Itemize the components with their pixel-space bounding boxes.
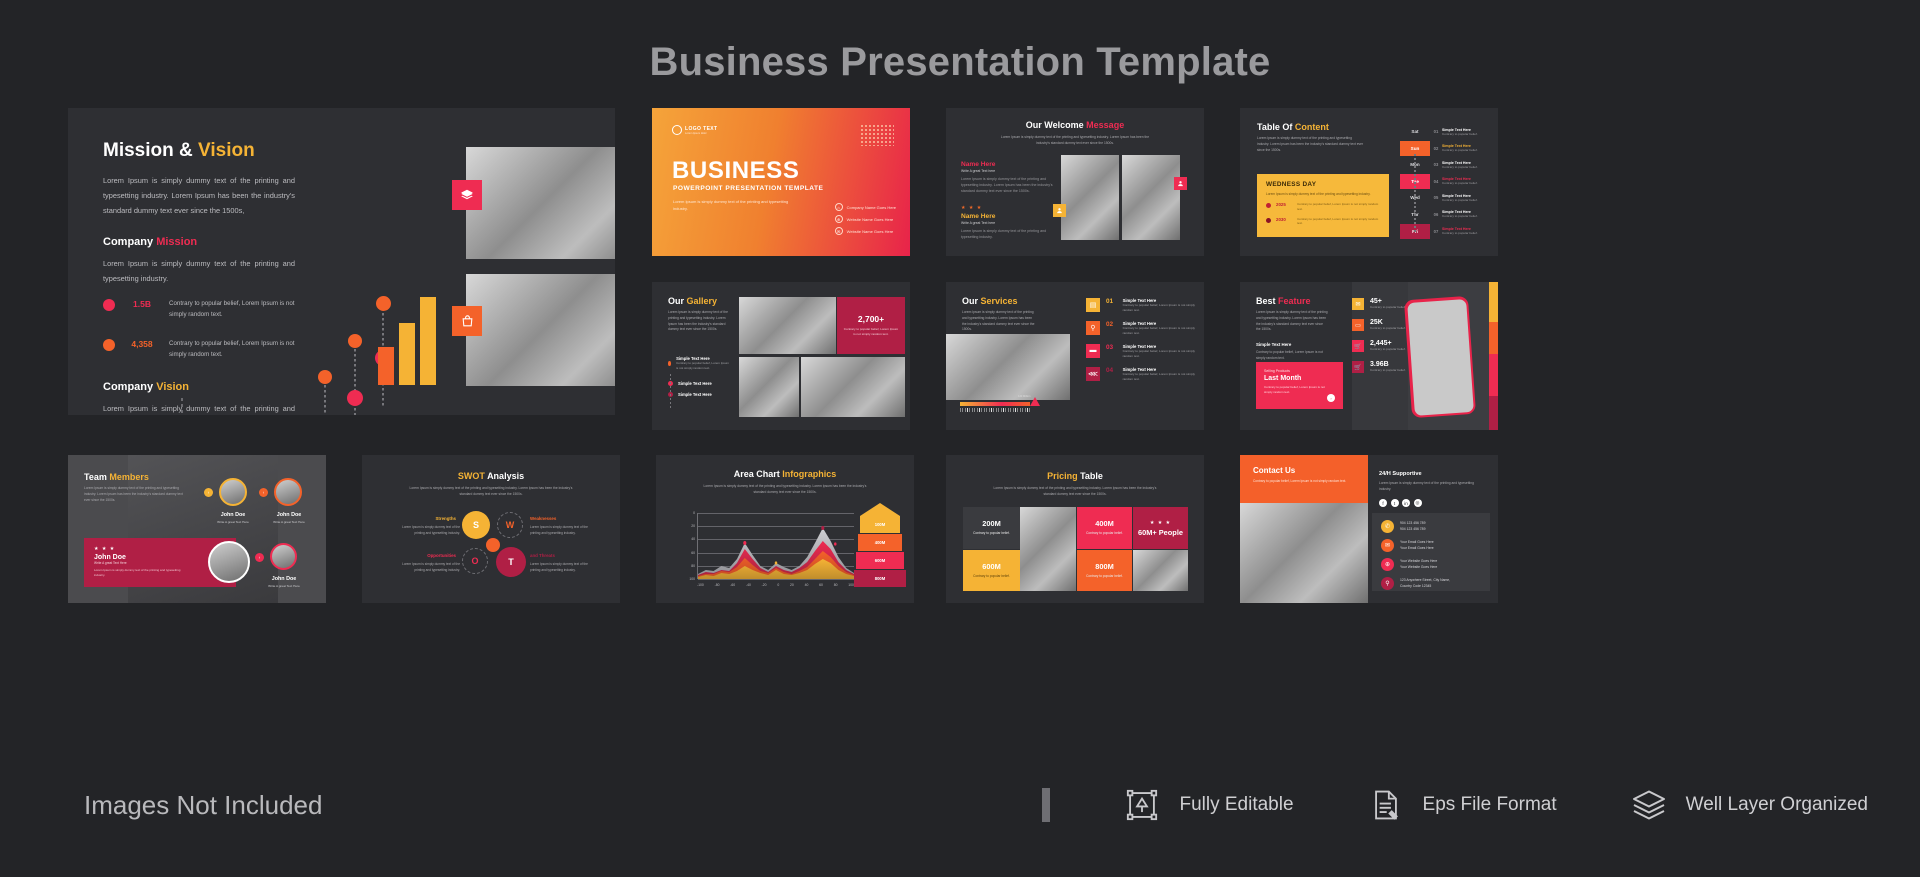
toc-highlight-card: WEDNESS DAY Lorem Ipsum is simply dummy … (1257, 174, 1389, 237)
stat-text-wrap: 25KContrary to popular belief. (1370, 319, 1406, 331)
toc-row[interactable]: Sat 01 Simple Text HereContrary to popul… (1400, 124, 1492, 139)
area-subtitle: Lorem Ipsum is simply dummy text of the … (699, 484, 871, 496)
member-name: John Doe (257, 576, 311, 582)
team-text: Lorem Ipsum is simply dummy text of the … (84, 486, 184, 503)
x-tick: 0 (777, 583, 779, 587)
swot-circle-w: W (497, 512, 523, 538)
gallery-list-item[interactable]: Simple Text HereContrary to popular beli… (668, 356, 730, 371)
social-links[interactable]: f t in ◎ (1379, 499, 1422, 507)
feature-subtitle: Simple Text Here (1256, 342, 1328, 347)
slide-table-of-content[interactable]: Table Of Content Lorem Ipsum is simply d… (1240, 108, 1498, 256)
swot-label-strengths: Strengths (394, 516, 456, 521)
slide-contact-us[interactable]: Contact Us Contrary to popular belief, L… (1240, 455, 1498, 603)
dot-pattern (860, 124, 894, 146)
contact-text: Website Name Goes Here (847, 229, 894, 234)
card-text: Contrary to popular belief, Lorem Ipsum … (1264, 385, 1326, 395)
card-text: Lorem Ipsum is simply dummy text of the … (1266, 192, 1380, 197)
swot-circle-t: T (496, 547, 526, 577)
service-row[interactable]: ▬ 03 Simple Text HereContrary to popular… (1086, 344, 1196, 359)
contact-lines: Your Website Goes HereYour Website Goes … (1400, 559, 1437, 570)
service-text: Simple Text HereContrary to popular beli… (1123, 321, 1196, 336)
linkedin-icon[interactable]: in (1402, 499, 1410, 507)
swot-label-weaknesses: Weaknesses (530, 516, 556, 521)
cover-contact-list: ⌂ Company Name Goes Here ⊕ Website Name … (835, 203, 896, 239)
presentation-preview-page: Business Presentation Template Mission &… (0, 0, 1920, 877)
slide-swot-analysis[interactable]: SWOT Analysis Lorem Ipsum is simply dumm… (362, 455, 620, 603)
contact-text: Website Name Goes Here (847, 217, 894, 222)
y-tick: 20 (691, 524, 695, 528)
footer-divider (1042, 788, 1050, 822)
x-tick: -80 (715, 583, 720, 587)
bubble-tail (324, 380, 326, 415)
home-icon: ⌂ (835, 203, 843, 211)
swot-title: SWOT Analysis (362, 471, 620, 481)
stat-text: Contrary to popular belief, Lorem Ipsum … (1297, 217, 1380, 226)
slide-best-feature[interactable]: Best Feature Lorem Ipsum is simply dummy… (1240, 282, 1498, 430)
group-photo (466, 274, 615, 386)
mail-icon: ✉ (1381, 539, 1394, 552)
area-chart: 0 20 40 60 80 100 (682, 513, 854, 587)
legend-arrow-icon (860, 503, 900, 516)
card-title: WEDNESS DAY (1266, 181, 1380, 188)
card-stat-row: 2030 Contrary to popular belief, Lorem I… (1266, 217, 1380, 226)
toc-number: 01 (1430, 129, 1442, 134)
legend-item[interactable]: 800M (854, 570, 906, 587)
stat-value: 2,700+ (858, 314, 884, 324)
avatar (219, 478, 247, 506)
pricing-cell[interactable]: 400MContrary to popular belief. (1077, 507, 1132, 549)
instagram-icon[interactable]: ◎ (1414, 499, 1422, 507)
slide-team-members[interactable]: Team Members Lorem Ipsum is simply dummy… (68, 455, 326, 603)
toc-text: Simple Text HereContrary to popular beli… (1442, 227, 1478, 235)
rating-stars: ★ ★ ★ (94, 546, 226, 552)
progress-bar (960, 402, 1030, 406)
gallery-stat-card: 2,700+ Contrary to popular belief, Lorem… (837, 297, 905, 354)
person-role: Write A great Text here (961, 169, 1053, 173)
logo: LOGO TEXT Lorem Ipsum dolor (672, 125, 718, 135)
contact-text: Contrary to popular belief, Lorem Ipsum … (1253, 479, 1355, 484)
x-tick: -100 (697, 583, 704, 587)
x-tick: -60 (730, 583, 735, 587)
person-photo (1061, 155, 1119, 240)
toc-number: 04 (1430, 179, 1442, 184)
bar (399, 323, 415, 385)
toc-subtitle: Lorem Ipsum is simply dummy text of the … (1257, 136, 1365, 153)
feature-stat-row: 🛒 2,445+Contrary to popular belief. (1352, 340, 1406, 352)
facebook-icon[interactable]: f (1379, 499, 1387, 507)
feature-title: Best Feature (1256, 296, 1328, 306)
gallery-title: Our Gallery (668, 296, 730, 306)
contact-lines: Your Email Goes HereYour Email Goes Here (1400, 540, 1434, 551)
layers-icon (452, 180, 482, 210)
x-tick: 40 (805, 583, 809, 587)
item-text: Simple Text HereContrary to popular beli… (676, 356, 730, 371)
toc-text: Simple Text HereContrary to popular beli… (1442, 194, 1478, 202)
person-role: Write A great Text here (961, 221, 1053, 225)
company-vision-body: Lorem Ipsum is simply dummy text of the … (103, 401, 295, 415)
y-axis: 0 20 40 60 80 100 (682, 513, 695, 579)
swot-label-threats: and Threats (530, 553, 555, 558)
swot-text-opportunities: Lorem Ipsum is simply dummy text of the … (392, 562, 460, 573)
x-tick: 80 (834, 583, 838, 587)
toc-number: 05 (1430, 195, 1442, 200)
card-stat-row: 2025 Contrary to popular belief, Lorem I… (1266, 202, 1380, 211)
gallery-list-item[interactable]: Simple Text Here (668, 392, 730, 397)
footer-feature-eps-format: Eps File Format (1366, 785, 1557, 825)
footer-feature-fully-editable: Fully Editable (1122, 785, 1293, 825)
feature-card: Selling Products Last Month Contrary to … (1256, 362, 1343, 409)
gallery-list-item[interactable]: Simple Text Here (668, 381, 730, 386)
legend-item[interactable]: 400M (858, 534, 902, 551)
stat-text-wrap: 2,445+Contrary to popular belief. (1370, 340, 1406, 352)
x-tick: 20 (790, 583, 794, 587)
user-icon (1053, 204, 1066, 217)
team-photo (466, 147, 615, 259)
member-name: John Doe (262, 512, 316, 518)
support-title: 24/H Supportive (1379, 471, 1484, 477)
stat-value: 1.5B (115, 299, 169, 309)
document-icon (1366, 785, 1406, 825)
phone-icon: ✆ (1381, 520, 1394, 533)
chevron-left-icon[interactable]: ‹ (204, 488, 213, 497)
feature-subtext: Contrary to popular belief, Lorem Ipsum … (1256, 350, 1328, 362)
stat-text: Contrary to popular belief, Lorem Ipsum … (169, 298, 299, 321)
contact-photo (1240, 503, 1368, 603)
avatar (270, 543, 297, 570)
color-stripe (1489, 282, 1498, 430)
toc-number: 03 (1430, 162, 1442, 167)
contact-lines: 904 123 456 789904 123 456 789 (1400, 521, 1425, 532)
toc-text: Simple Text HereContrary to popular beli… (1442, 177, 1478, 185)
feature-stat-row: 🛒 3.96BContrary to popular belief. (1352, 361, 1406, 373)
layers-icon (1629, 785, 1669, 825)
service-number: 04 (1106, 367, 1117, 374)
area-title: Area Chart Infographics (656, 469, 914, 479)
bubble (347, 390, 363, 406)
service-row[interactable]: ▤ 01 Simple Text HereContrary to popular… (1086, 298, 1196, 313)
service-row[interactable]: ⋘ 04 Simple Text HereContrary to popular… (1086, 367, 1196, 382)
person-photo (1122, 155, 1180, 240)
logo-subtext: Lorem Ipsum dolor (685, 132, 718, 135)
x-tick: -20 (762, 583, 767, 587)
featured-name: John Doe (94, 554, 226, 561)
phone-screen (1407, 299, 1474, 416)
footer-bar: Images Not Included Fully Editable (0, 775, 1920, 835)
footer-feature-label: Eps File Format (1423, 794, 1557, 816)
y-tick: 0 (693, 511, 695, 515)
chart-label: 123 Million (1018, 395, 1030, 398)
person-name: Name Here (961, 213, 1053, 220)
toc-number: 02 (1430, 146, 1442, 151)
tick-marks (960, 408, 1032, 412)
toc-day: Sat (1400, 124, 1430, 139)
mail-icon: ✉ (1352, 298, 1364, 310)
bubble (318, 370, 332, 384)
stat-value: 4,358 (115, 339, 169, 349)
chart-legend: 100M 400M 600M 800M (860, 503, 900, 588)
stat-dot (1266, 218, 1271, 223)
logo-ring-icon (672, 125, 682, 135)
stat-dot (1266, 203, 1271, 208)
cover-subtitle: POWERPOINT PRESENTATION TEMPLATE (673, 185, 823, 192)
plot-area (697, 513, 854, 579)
contact-item[interactable]: ✆ 904 123 456 789904 123 456 789 (1381, 520, 1481, 533)
chevron-left-icon[interactable]: ‹ (259, 488, 268, 497)
member-role: Write A great Text Here (262, 520, 316, 524)
stat-dot (103, 339, 115, 351)
area-series-svg (698, 513, 854, 579)
pricing-subtitle: Lorem Ipsum is simply dummy text of the … (991, 486, 1159, 498)
stat-text: Contrary to popular belief, Lorem Ipsum … (1297, 202, 1380, 211)
vector-pen-icon (1122, 785, 1162, 825)
services-title: Our Services (962, 296, 1036, 306)
contact-title: Contact Us (1253, 466, 1355, 475)
stat-text-wrap: 45+Contrary to popular belief. (1370, 298, 1406, 310)
rating-stars: ★ ★ ★ (1150, 520, 1171, 526)
gallery-photo (739, 297, 836, 354)
mission-bar-chart (378, 280, 450, 385)
briefcase-icon: ▬ (1086, 344, 1100, 358)
person-text: Lorem Ipsum is simply dummy text of the … (961, 177, 1053, 194)
y-tick: 60 (691, 551, 695, 555)
stat-year: 2025 (1276, 202, 1292, 207)
pin-icon: ⚲ (1381, 577, 1394, 590)
gallery-connector (670, 374, 671, 408)
feature-stat-row: ✉ 45+Contrary to popular belief. (1352, 298, 1406, 310)
service-row[interactable]: ⚲ 02 Simple Text HereContrary to popular… (1086, 321, 1196, 336)
slide-gallery[interactable]: Our Gallery Lorem Ipsum is simply dummy … (652, 282, 910, 430)
slide-business-cover[interactable]: LOGO TEXT Lorem Ipsum dolor BUSINESS POW… (652, 108, 910, 256)
logo-text: LOGO TEXT (685, 126, 718, 132)
contact-row: ⌂ Company Name Goes Here (835, 203, 896, 211)
team-title: Team Members (84, 472, 184, 482)
pricing-photo (1133, 550, 1188, 591)
twitter-icon[interactable]: t (1391, 499, 1399, 507)
pricing-cell[interactable]: 800MContrary to popular belief. (1077, 550, 1132, 591)
toc-connector (1414, 154, 1416, 234)
swot-circle-s: S (462, 511, 490, 539)
welcome-subtitle: Lorem Ipsum is simply dummy text of the … (995, 135, 1155, 147)
feature-text: Lorem Ipsum is simply dummy text of the … (1256, 310, 1328, 333)
cart-check-icon: 🛒 (1352, 361, 1364, 373)
swot-text-strengths: Lorem Ipsum is simply dummy text of the … (392, 525, 460, 536)
card-title: Last Month (1264, 375, 1335, 382)
service-number: 01 (1106, 298, 1117, 305)
x-tick: -40 (746, 583, 751, 587)
y-tick: 40 (691, 537, 695, 541)
pricing-cell[interactable]: ★ ★ ★ 60M+ People (1133, 507, 1188, 549)
person-name: Name Here (961, 161, 1053, 168)
rating-stars: ★ ★ ★ (961, 205, 1053, 211)
mail-icon: ✉ (835, 227, 843, 235)
toc-number: 07 (1430, 229, 1442, 234)
bubble (348, 334, 362, 348)
toc-text: Simple Text HereContrary to popular beli… (1442, 144, 1478, 152)
service-number: 02 (1106, 321, 1117, 328)
card-icon: ▭ (1352, 319, 1364, 331)
person-text: Lorem Ipsum is simply dummy text of the … (961, 229, 1053, 241)
user-icon (1174, 177, 1187, 190)
member-role: Write A great Text Here (257, 584, 311, 588)
toc-text: Simple Text HereContrary to popular beli… (1442, 161, 1478, 169)
footer-feature-label: Fully Editable (1179, 794, 1293, 816)
support-text: Lorem Ipsum is simply dummy text of the … (1379, 481, 1484, 493)
slide-mission-vision[interactable]: Mission & Vision Lorem Ipsum is simply d… (68, 108, 615, 415)
featured-avatar (208, 541, 250, 583)
swot-subtitle: Lorem Ipsum is simply dummy text of the … (405, 486, 577, 498)
gallery-text: Lorem Ipsum is simply dummy text of the … (668, 310, 730, 333)
bag-icon (452, 306, 482, 336)
swot-label-opportunities: Opportunities (394, 553, 456, 558)
toc-text: Simple Text HereContrary to popular beli… (1442, 128, 1478, 136)
swot-text-threats: Lorem Ipsum is simply dummy text of the … (530, 562, 598, 573)
item-text: Simple Text Here (678, 381, 712, 386)
member-name: John Doe (206, 512, 260, 518)
stat-text-wrap: 3.96BContrary to popular belief. (1370, 361, 1406, 373)
cover-title: BUSINESS (672, 157, 800, 185)
avatar (274, 478, 302, 506)
member-role: Write A great Text Here (206, 520, 260, 524)
bulb-icon: ⚲ (1086, 321, 1100, 335)
contact-item[interactable]: ⚲ 123 Anywhere Street, City Name,Country… (1381, 577, 1481, 590)
toc-number: 06 (1430, 212, 1442, 217)
x-tick: 60 (819, 583, 823, 587)
stat-connector (181, 398, 183, 415)
marker-triangle-icon (1030, 397, 1040, 406)
services-text: Lorem Ipsum is simply dummy text of the … (962, 310, 1036, 333)
slide-welcome-message[interactable]: Our Welcome Message Lorem Ipsum is simpl… (946, 108, 1204, 256)
stat-text: Contrary to popular belief, Lorem Ipsum … (843, 327, 899, 338)
mission-intro: Lorem Ipsum is simply dummy text of the … (103, 173, 295, 219)
contact-item[interactable]: ⊕ Your Website Goes HereYour Website Goe… (1381, 558, 1481, 571)
featured-text: Lorem Ipsum is simply dummy text of the … (94, 568, 189, 578)
service-number: 03 (1106, 344, 1117, 351)
bubble-tail (354, 344, 356, 392)
globe-icon: ⊕ (835, 215, 843, 223)
service-text: Simple Text HereContrary to popular beli… (1123, 298, 1196, 313)
swot-circle-o: O (462, 548, 488, 574)
stat-text: Contrary to popular belief, Lorem Ipsum … (169, 338, 299, 361)
toc-text: Simple Text HereContrary to popular beli… (1442, 210, 1478, 218)
contact-text: Company Name Goes Here (847, 205, 896, 210)
contact-header: Contact Us Contrary to popular belief, L… (1240, 455, 1368, 503)
globe-icon: ⊕ (1381, 558, 1394, 571)
window-icon: ▤ (1086, 298, 1100, 312)
featured-role: Write A great Text Here (94, 561, 226, 565)
slide-area-chart[interactable]: Area Chart Infographics Lorem Ipsum is s… (656, 455, 914, 603)
swot-center-circle (486, 538, 500, 552)
pricing-title: Pricing Table (946, 471, 1204, 481)
card-eyebrow: Selling Products (1264, 369, 1335, 373)
pricing-cell[interactable]: 600MContrary to popular belief. (963, 550, 1020, 591)
bullet-dot (668, 361, 671, 366)
item-text: Simple Text Here (678, 392, 712, 397)
y-tick: 80 (691, 564, 695, 568)
service-text: Simple Text HereContrary to popular beli… (1123, 367, 1196, 382)
legend-item[interactable]: 600M (856, 552, 904, 569)
chevron-left-icon[interactable]: ‹ (255, 553, 264, 562)
bar (378, 347, 394, 385)
phone-mockup (1404, 296, 1476, 418)
y-tick: 100 (689, 577, 695, 581)
bar (420, 297, 436, 385)
arrow-icon[interactable]: › (1327, 394, 1335, 402)
slide-services[interactable]: Our Services Lorem Ipsum is simply dummy… (946, 282, 1204, 430)
contact-item[interactable]: ✉ Your Email Goes HereYour Email Goes He… (1381, 539, 1481, 552)
swot-text-weaknesses: Lorem Ipsum is simply dummy text of the … (530, 525, 598, 536)
footer-feature-layers: Well Layer Organized (1629, 785, 1868, 825)
page-title: Business Presentation Template (0, 0, 1920, 85)
stat-dot (103, 299, 115, 311)
legend-item[interactable]: 100M (860, 516, 900, 533)
contact-row: ✉ Website Name Goes Here (835, 227, 896, 235)
contact-row: ⊕ Website Name Goes Here (835, 215, 896, 223)
service-text: Simple Text HereContrary to popular beli… (1123, 344, 1196, 359)
cart-icon: 🛒 (1352, 340, 1364, 352)
company-mission-body: Lorem Ipsum is simply dummy text of the … (103, 256, 295, 286)
stat-year: 2030 (1276, 217, 1292, 222)
gallery-photo (739, 357, 799, 417)
slide-pricing-table[interactable]: Pricing Table Lorem Ipsum is simply dumm… (946, 455, 1204, 603)
footer-headline: Images Not Included (84, 790, 322, 821)
x-axis: -100 -80 -60 -40 -20 0 20 40 60 80 100 (697, 583, 854, 587)
gallery-photo (801, 357, 905, 417)
pricing-cell[interactable]: 200MContrary to popular belief. (963, 507, 1020, 549)
share-icon: ⋘ (1086, 367, 1100, 381)
welcome-title: Our Welcome Message (946, 120, 1204, 130)
cover-paragraph: Lorem Ipsum is simply dummy text of the … (673, 198, 793, 212)
services-photo (946, 334, 1070, 400)
footer-feature-label: Well Layer Organized (1686, 794, 1868, 816)
feature-stat-row: ▭ 25KContrary to popular belief. (1352, 319, 1406, 331)
contact-lines: 123 Anywhere Street, City Name,Country C… (1400, 578, 1450, 589)
pricing-photo (1020, 507, 1076, 591)
